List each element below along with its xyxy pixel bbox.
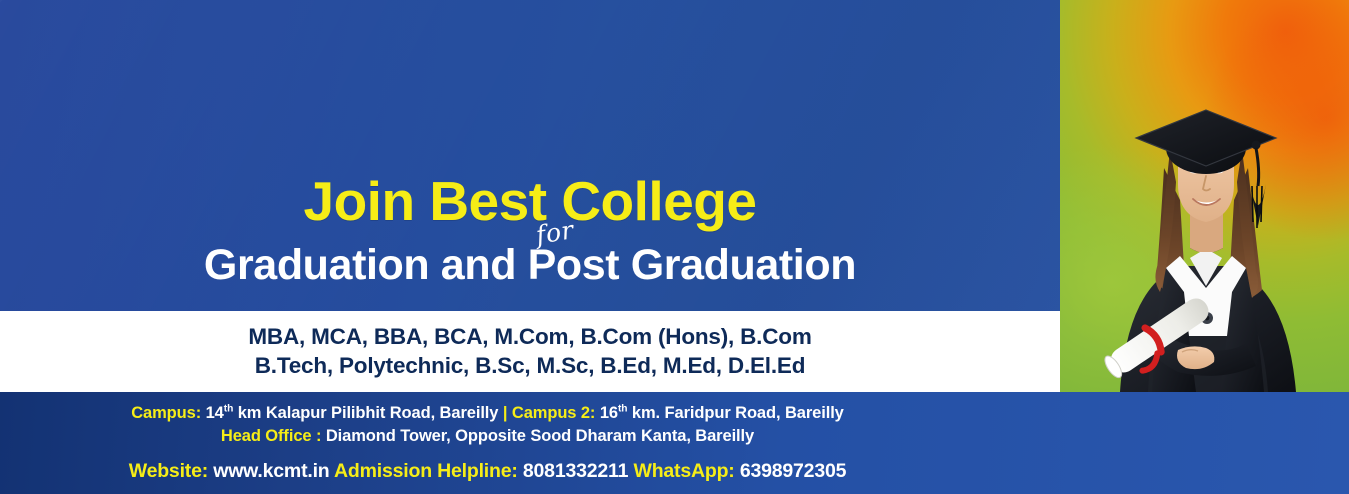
campus2-label: Campus 2:: [512, 404, 595, 422]
website-value[interactable]: www.kcmt.in: [213, 460, 329, 482]
whatsapp-label: WhatsApp:: [633, 460, 734, 482]
helpline-label: Admission Helpline:: [334, 460, 518, 482]
campus2-ordinal: th: [618, 404, 627, 415]
helpline-value[interactable]: 8081332211: [523, 460, 628, 482]
campus2-value-pre: 16: [600, 404, 618, 422]
footer-contact-bar: Campus: 14th km Kalapur Pilibhit Road, B…: [0, 392, 1349, 494]
campus1-ordinal: th: [224, 404, 233, 415]
campus1-value-pre: 14: [206, 404, 224, 422]
headline-primary: Join Best College: [0, 172, 1060, 231]
campus-address-line: Campus: 14th km Kalapur Pilibhit Road, B…: [0, 398, 975, 425]
script-word-for: for: [534, 215, 576, 250]
graduate-photo-panel: [1060, 0, 1349, 392]
head-office-label: Head Office :: [221, 427, 321, 445]
college-admission-banner: Join Best College Graduation and Post Gr…: [0, 0, 1349, 494]
courses-line-2: B.Tech, Polytechnic, B.Sc, M.Sc, B.Ed, M…: [255, 352, 806, 380]
headline-secondary: Graduation and Post Graduation: [0, 242, 1060, 288]
head-office-value: Diamond Tower, Opposite Sood Dharam Kant…: [326, 427, 754, 445]
graduate-figure-illustration: [1060, 0, 1349, 392]
website-label: Website:: [129, 460, 208, 482]
head-office-line: Head Office : Diamond Tower, Opposite So…: [0, 425, 975, 448]
website-helpline-line: Website: www.kcmt.in Admission Helpline:…: [0, 449, 975, 486]
campus1-label: Campus:: [131, 404, 201, 422]
headline-block: Join Best College Graduation and Post Gr…: [0, 172, 1060, 289]
address-separator: |: [503, 404, 508, 422]
courses-line-1: MBA, MCA, BBA, BCA, M.Com, B.Com (Hons),…: [248, 323, 811, 351]
campus2-value-post: km. Faridpur Road, Bareilly: [627, 404, 843, 422]
campus1-value-post: km Kalapur Pilibhit Road, Bareilly: [233, 404, 498, 422]
contact-block: Campus: 14th km Kalapur Pilibhit Road, B…: [0, 392, 975, 494]
courses-band: MBA, MCA, BBA, BCA, M.Com, B.Com (Hons),…: [0, 311, 1060, 392]
whatsapp-value[interactable]: 6398972305: [740, 460, 846, 482]
